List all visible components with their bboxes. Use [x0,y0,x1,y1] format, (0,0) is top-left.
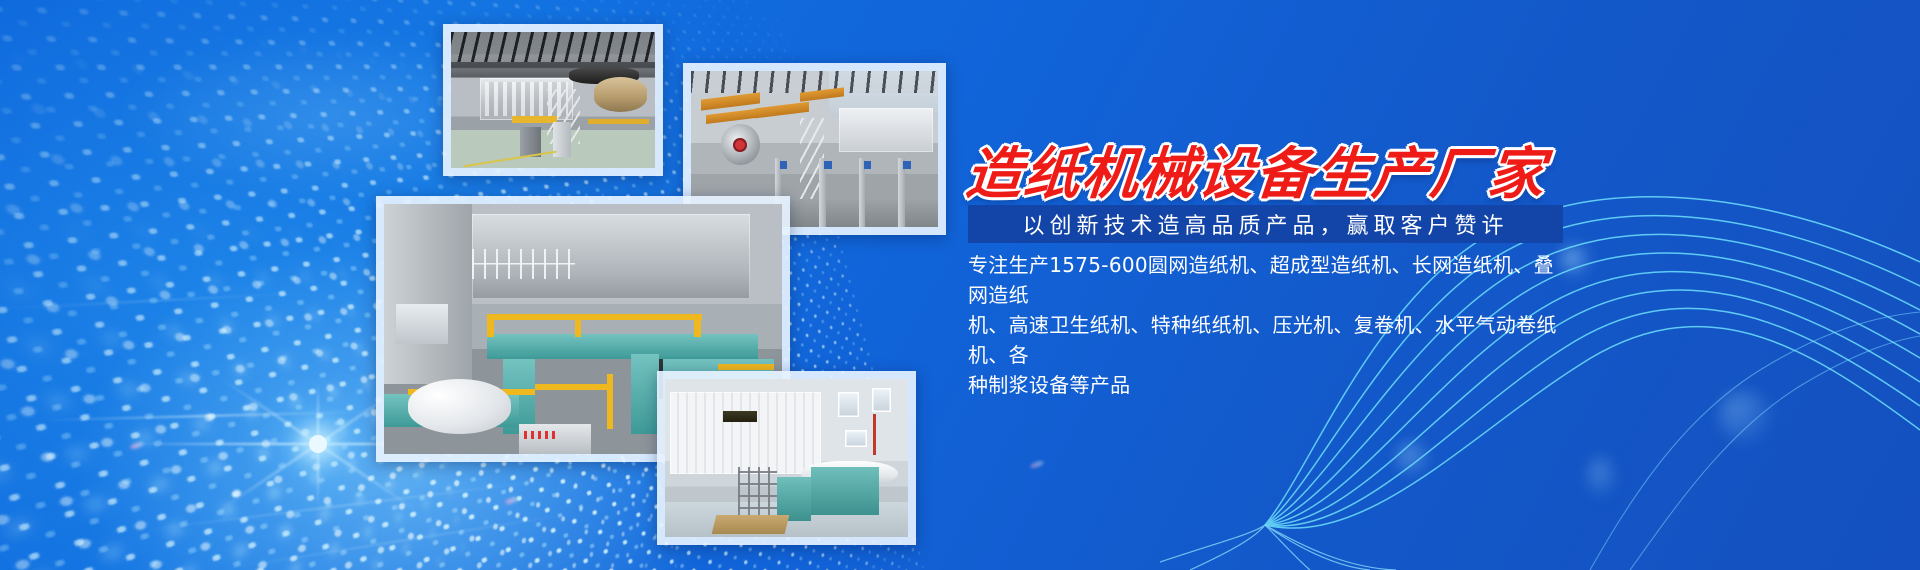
photo-frame-inner [451,32,655,168]
bokeh-dot [1396,442,1430,476]
banner-description: 专注生产1575-600圆网造纸机、超成型造纸机、长网造纸机、叠网造纸 机、高速… [968,250,1568,400]
spark-particle [1030,460,1045,469]
banner-title: 造纸机械设备生产厂家 [963,142,1589,208]
promo-banner: 造纸机械设备生产厂家 以创新技术造高品质产品，赢取客户赞许 专注生产1575-6… [0,0,1920,570]
tissue-paper-machine-photo-card[interactable] [657,371,916,545]
description-line-3: 种制浆设备等产品 [968,370,1568,400]
banner-subtitle: 以创新技术造高品质产品，赢取客户赞许 [1022,208,1508,240]
paper-machine-hall-photo-card[interactable] [443,24,663,176]
bokeh-dot [1718,390,1772,444]
tissue-paper-machine-photo [665,379,908,537]
banner-subtitle-bar: 以创新技术造高品质产品，赢取客户赞许 [968,205,1563,243]
paper-machine-hall-photo [451,32,655,168]
photo-frame-inner [665,379,908,537]
description-line-1: 专注生产1575-600圆网造纸机、超成型造纸机、长网造纸机、叠网造纸 [968,250,1568,310]
bokeh-dot [1588,456,1614,500]
description-line-2: 机、高速卫生纸机、特种纸纸机、压光机、复卷机、水平气动卷纸机、各 [968,310,1568,370]
